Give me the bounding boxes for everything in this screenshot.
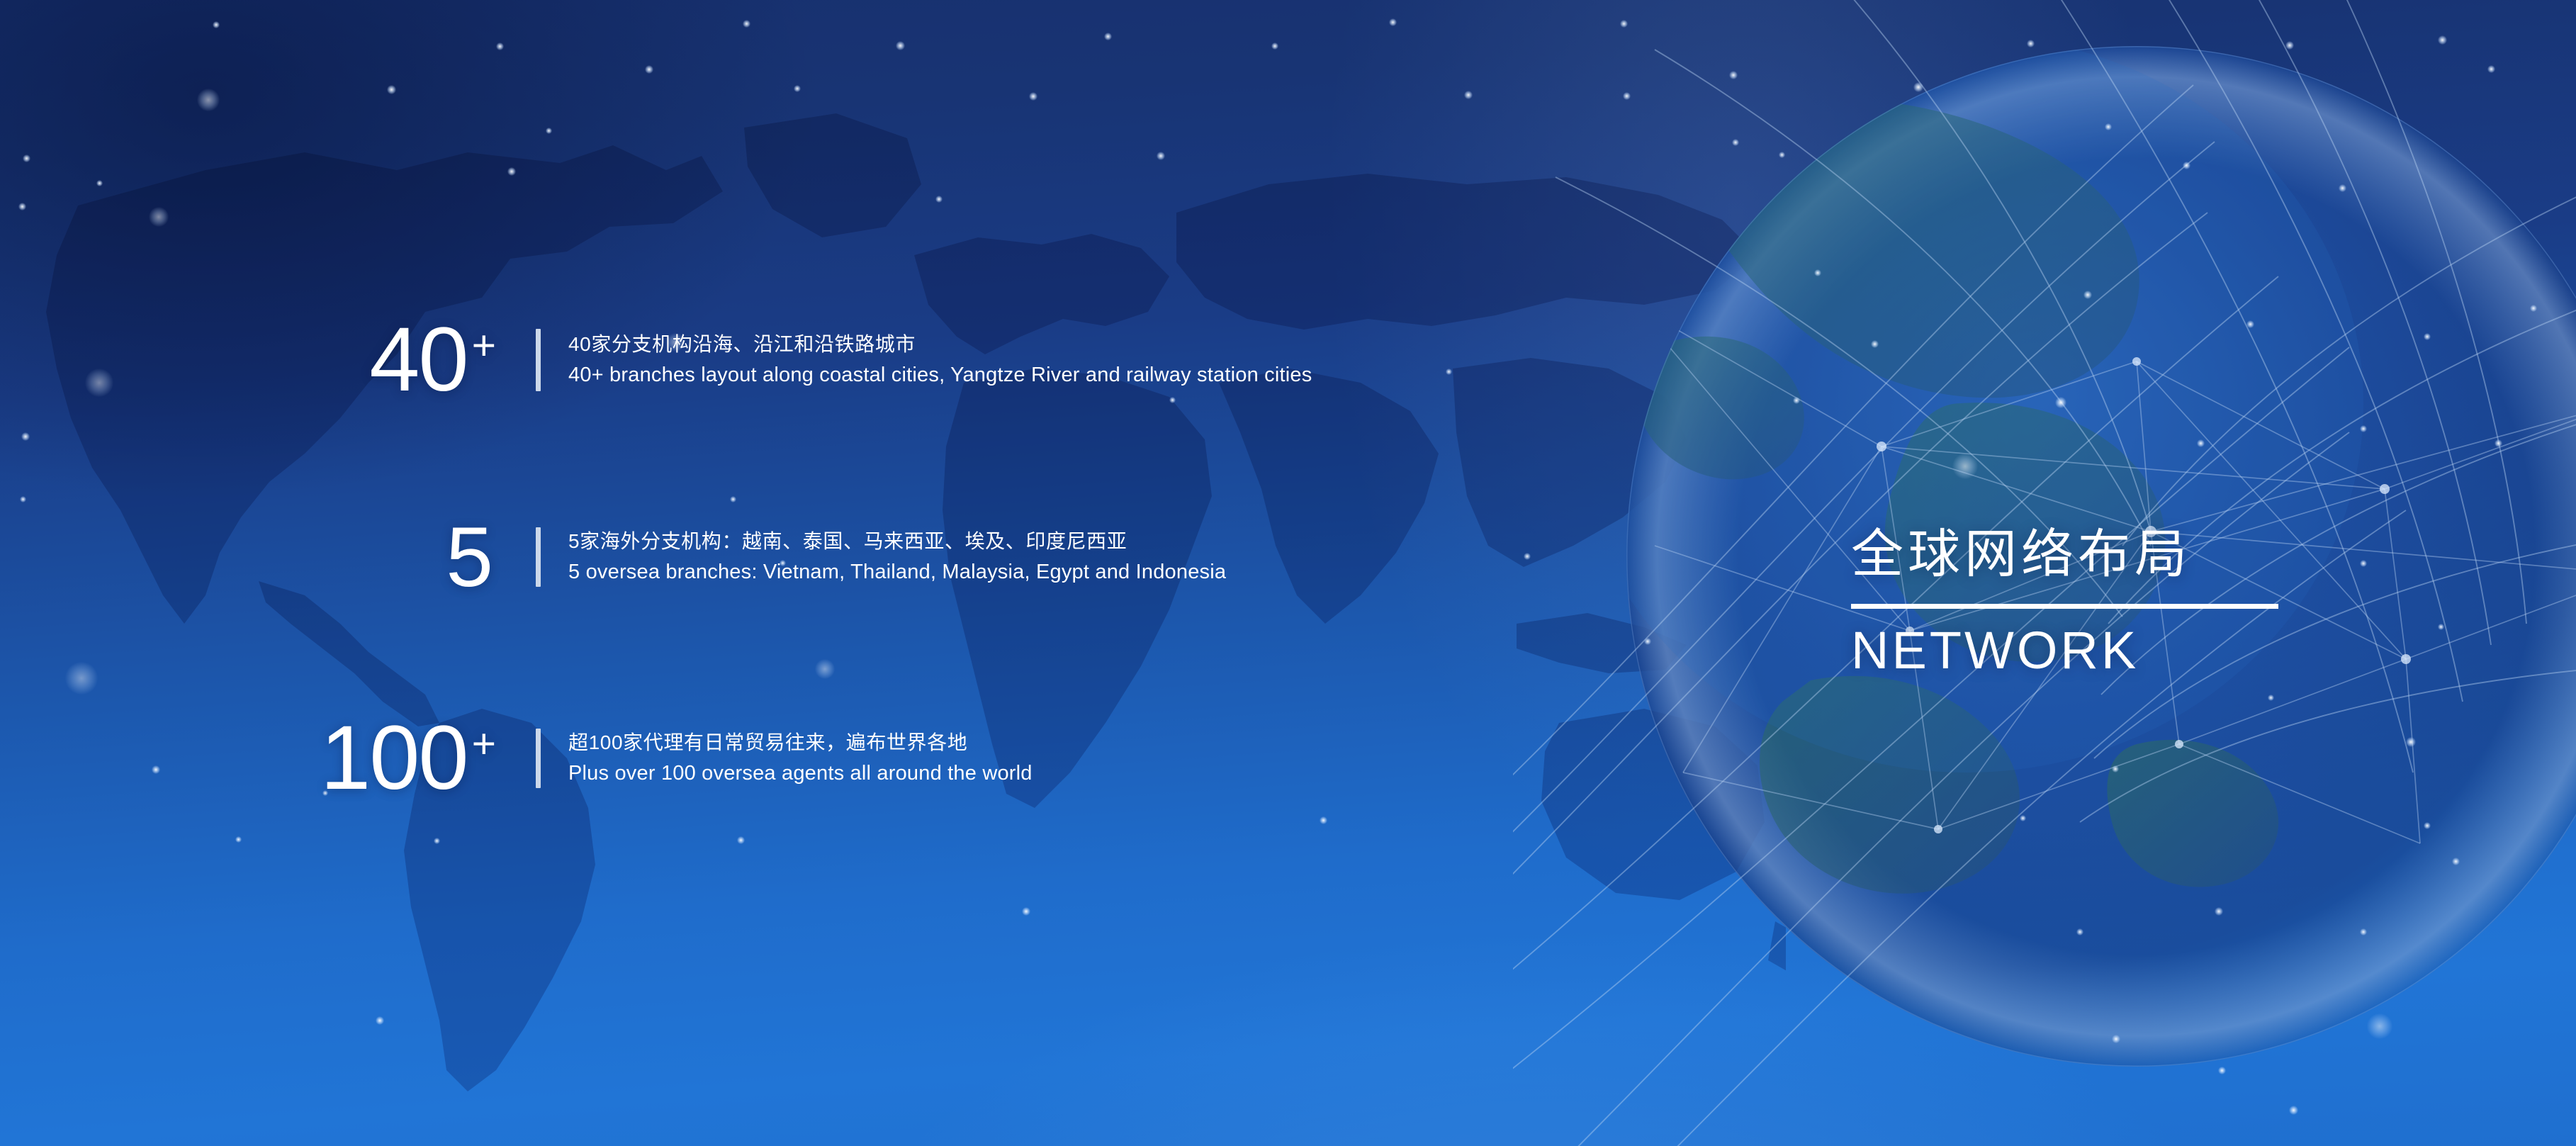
stat-text-block: 超100家代理有日常贸易往来，遍布世界各地 Plus over 100 over… bbox=[568, 728, 1033, 789]
stat-divider bbox=[536, 729, 541, 788]
stat-divider bbox=[536, 329, 541, 391]
title-underline bbox=[1851, 604, 2278, 609]
stat-number-value: 5 bbox=[446, 510, 492, 605]
stat-description-cn: 5家海外分支机构：越南、泰国、马来西亚、埃及、印度尼西亚 bbox=[568, 527, 1226, 557]
stats-list: 40+ 40家分支机构沿海、沿江和沿铁路城市 40+ branches layo… bbox=[0, 0, 1736, 1146]
stat-number-suffix: + bbox=[472, 322, 496, 369]
section-title: 全球网络布局 NETWORK bbox=[1851, 528, 2305, 677]
stat-description-en: Plus over 100 oversea agents all around … bbox=[568, 758, 1033, 790]
stat-row-branches: 40+ 40家分支机构沿海、沿江和沿铁路城市 40+ branches layo… bbox=[0, 315, 1312, 405]
stat-description-en: 5 oversea branches: Vietnam, Thailand, M… bbox=[568, 557, 1226, 588]
section-title-cn: 全球网络布局 bbox=[1851, 528, 2305, 580]
stat-description-cn: 超100家代理有日常贸易往来，遍布世界各地 bbox=[568, 728, 1033, 758]
network-banner: 40+ 40家分支机构沿海、沿江和沿铁路城市 40+ branches layo… bbox=[0, 0, 2576, 1146]
stat-row-agents: 100+ 超100家代理有日常贸易往来，遍布世界各地 Plus over 100… bbox=[0, 713, 1033, 804]
stat-number-value: 40 bbox=[369, 309, 467, 410]
section-title-en: NETWORK bbox=[1851, 624, 2305, 677]
stat-divider bbox=[536, 527, 541, 587]
stat-number-5: 5 bbox=[0, 515, 496, 600]
stat-row-oversea-branches: 5 5家海外分支机构：越南、泰国、马来西亚、埃及、印度尼西亚 5 oversea… bbox=[0, 515, 1226, 600]
stat-text-block: 5家海外分支机构：越南、泰国、马来西亚、埃及、印度尼西亚 5 oversea b… bbox=[568, 527, 1226, 588]
stat-number-40: 40+ bbox=[0, 315, 496, 405]
stat-description-en: 40+ branches layout along coastal cities… bbox=[568, 360, 1312, 391]
stat-description-cn: 40家分支机构沿海、沿江和沿铁路城市 bbox=[568, 330, 1312, 360]
stat-number-suffix: + bbox=[472, 721, 496, 767]
stat-number-value: 100 bbox=[320, 707, 468, 809]
stat-number-100: 100+ bbox=[0, 713, 496, 804]
stat-text-block: 40家分支机构沿海、沿江和沿铁路城市 40+ branches layout a… bbox=[568, 330, 1312, 391]
